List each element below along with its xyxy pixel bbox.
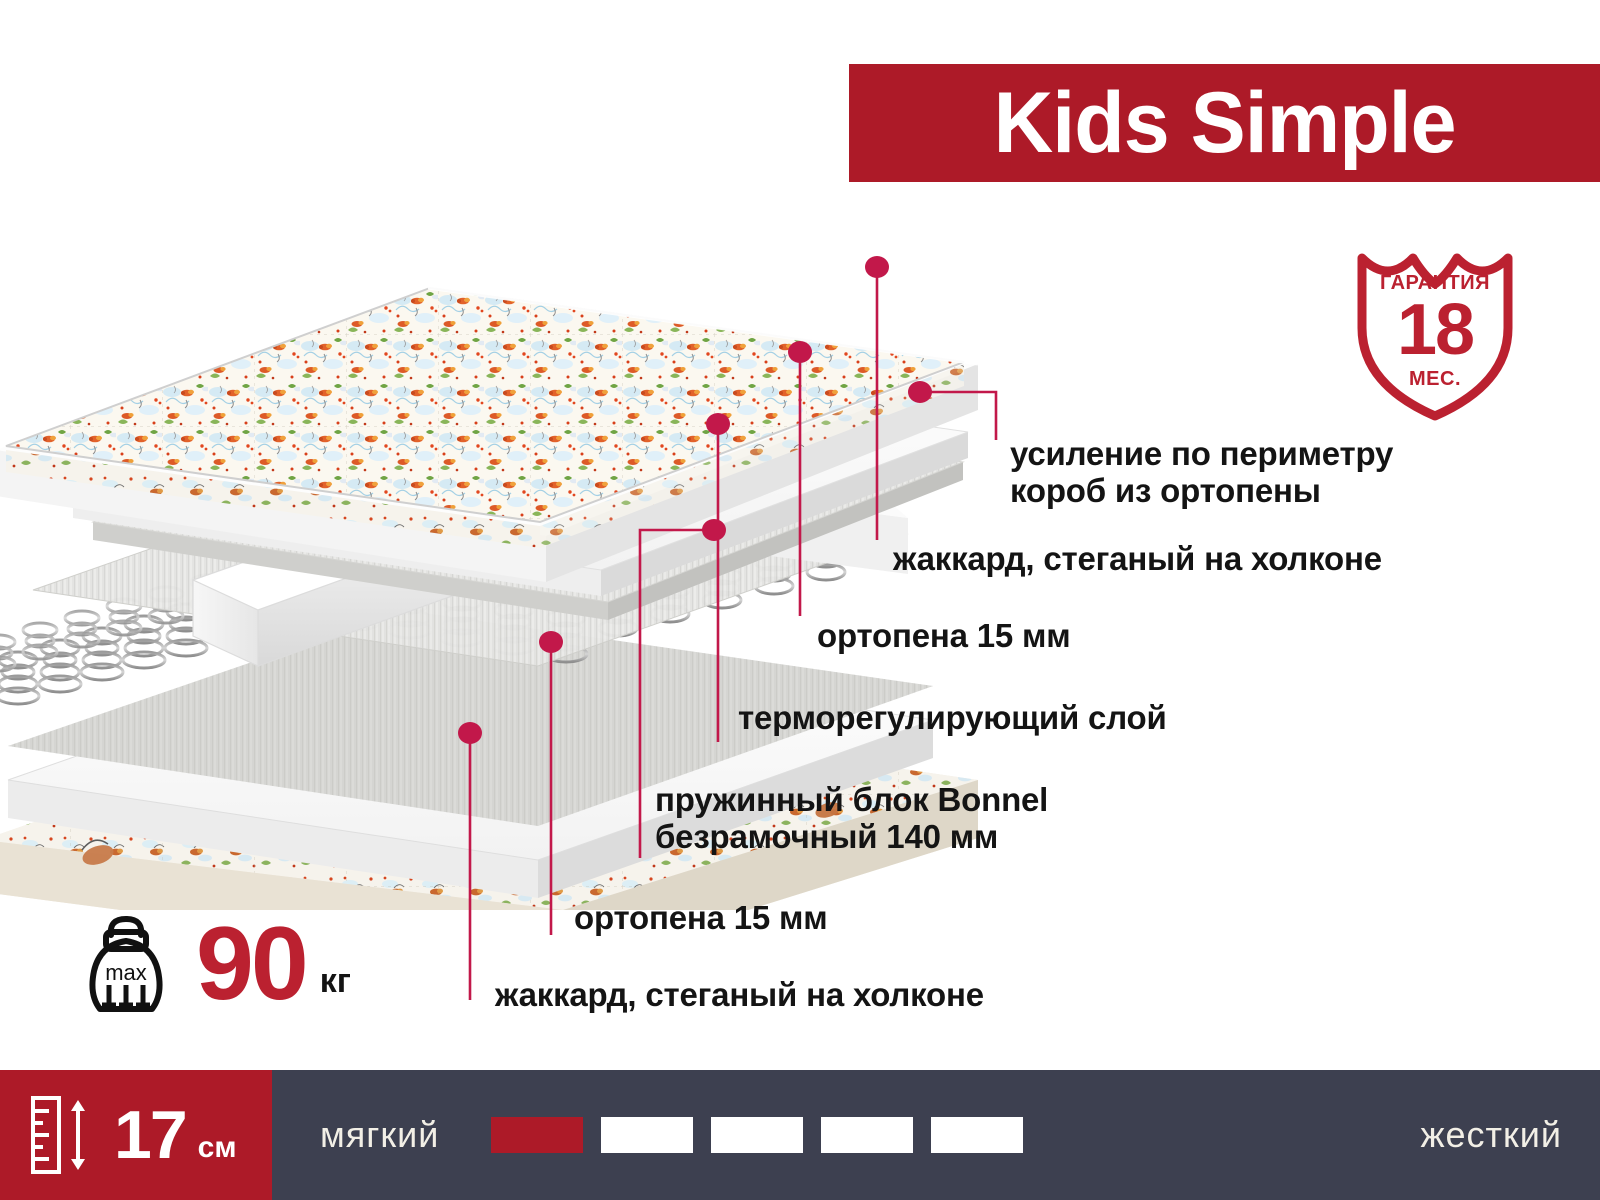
guarantee-value: 18 (1340, 294, 1530, 366)
firmness-segment-2[interactable] (601, 1117, 693, 1153)
firmness-segment-3[interactable] (711, 1117, 803, 1153)
bottom-spec-bar: 17 см мягкий жесткий (0, 1070, 1600, 1200)
firmness-soft-label: мягкий (320, 1114, 439, 1156)
guarantee-unit: МЕС. (1340, 368, 1530, 391)
firmness-hard-label: жесткий (1420, 1114, 1562, 1156)
guarantee-badge: ГАРАНТИЯ 18 МЕС. (1340, 236, 1530, 426)
product-title-banner: Kids Simple (849, 64, 1600, 182)
max-weight-unit: кг (320, 962, 351, 1001)
label-jacquard-top: жаккард, стеганый на холконе (893, 541, 1382, 578)
product-infographic: Kids Simple ГАРАНТИЯ 18 МЕС. (0, 0, 1600, 1200)
height-unit: см (198, 1131, 237, 1165)
max-weight-badge: max 90 кг (78, 905, 351, 1013)
max-weight-value: 90 (196, 917, 306, 1013)
label-foam-top: ортопена 15 мм (817, 618, 1070, 655)
label-foam-bottom: ортопена 15 мм (574, 900, 827, 937)
label-spring-block: пружинный блок Bonnel безрамочный 140 мм (655, 782, 1048, 856)
label-perimeter-foam: усиление по периметру короб из ортопены (1010, 436, 1393, 510)
height-spec-block: 17 см (0, 1070, 272, 1200)
label-jacquard-bottom: жаккард, стеганый на холконе (495, 977, 984, 1014)
firmness-scale: мягкий жесткий (272, 1070, 1600, 1200)
ruler-icon (30, 1094, 96, 1176)
firmness-segment-4[interactable] (821, 1117, 913, 1153)
firmness-segment-5[interactable] (931, 1117, 1023, 1153)
firmness-segment-1[interactable] (491, 1117, 583, 1153)
kettlebell-icon: max (78, 905, 174, 1013)
page-title: Kids Simple (993, 80, 1455, 166)
firmness-segments (491, 1117, 1023, 1153)
kettlebell-max-label: max (105, 960, 147, 985)
label-thermoregulating: терморегулирующий слой (738, 700, 1167, 737)
height-value: 17 (114, 1101, 186, 1169)
